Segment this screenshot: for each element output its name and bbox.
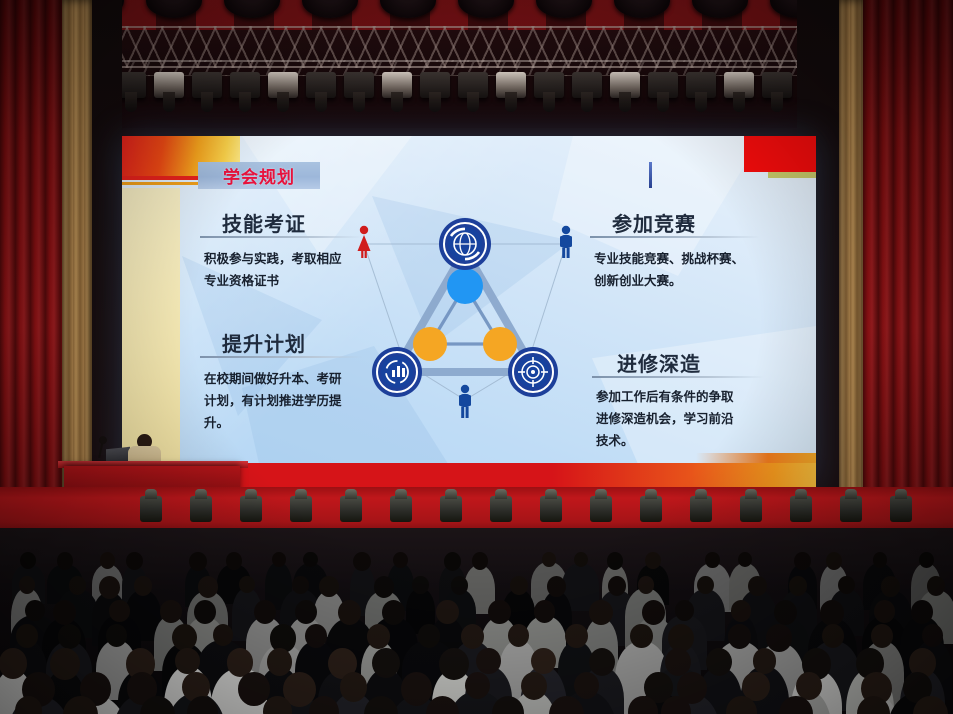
floor-light [340, 496, 362, 522]
floor-light [190, 496, 212, 522]
audience-crowd [0, 528, 953, 714]
body-further-study: 参加工作后有条件的争取 进修深造机会，学习前沿 技术。 [596, 386, 808, 452]
audience-member-head [69, 576, 86, 595]
audience-member-head [50, 648, 80, 680]
light-hanger [619, 92, 631, 112]
audience-member-head [226, 552, 243, 570]
audience-member-head [461, 624, 484, 649]
audience-member-head [794, 552, 811, 570]
audience-member-head [542, 552, 556, 567]
body-line: 专业技能竞赛、挑战杯赛、 [594, 248, 804, 270]
slide-tick-mark [649, 162, 652, 188]
audience-member-head [911, 600, 933, 624]
light-hanger [733, 92, 745, 112]
projection-screen: 学会规划 技能考证 积极参与实践，考取相应 专业资格证书 参加竞赛 专业技能竞赛… [122, 136, 816, 487]
person-male-icon-bottom [459, 385, 471, 418]
audience-member-head [476, 648, 500, 674]
audience-member-head [412, 576, 428, 594]
audience-member-head [565, 624, 588, 648]
globe-gear-icon [439, 218, 491, 270]
audience-member-head [820, 600, 844, 626]
audience-member-head [100, 552, 116, 569]
floor-light [290, 496, 312, 522]
body-line: 创新创业大赛。 [594, 270, 804, 292]
wood-column-right [839, 0, 863, 545]
audience-member-head [472, 552, 489, 570]
connector-line [364, 244, 404, 362]
light-hanger [315, 92, 327, 112]
person-female-icon [358, 226, 371, 258]
audience-member-head [705, 552, 720, 568]
audience-member-head [16, 624, 38, 648]
light-hanger [467, 92, 479, 112]
audience-member-head [881, 576, 900, 597]
slide-title-text: 学会规划 [223, 163, 295, 188]
audience-member-head [531, 648, 555, 674]
light-hanger [163, 92, 175, 112]
body-line: 进修深造机会，学习前沿 [596, 408, 808, 430]
audience-member-head [189, 552, 206, 571]
dot-orange-right [483, 327, 517, 361]
floor-light [690, 496, 712, 522]
audience-member-head [319, 576, 339, 597]
audience-member-head [272, 552, 286, 567]
audience-member-head [728, 624, 751, 649]
audience-member-head [58, 624, 81, 649]
floor-light [890, 496, 912, 522]
audience-member-head [372, 648, 400, 678]
floor-light [390, 496, 412, 522]
audience-member-head [510, 576, 528, 595]
audience-member-head [874, 600, 895, 623]
light-hanger [695, 92, 707, 112]
floor-light [140, 496, 162, 522]
audience-member-head [873, 552, 888, 568]
curtain-left [0, 0, 62, 545]
audience-member-head [642, 600, 665, 625]
audience-member-head [766, 624, 792, 652]
heading-improvement-plan: 提升计划 [222, 328, 306, 357]
heading-rule [200, 236, 362, 238]
audience-member-head [303, 552, 317, 567]
floor-light [790, 496, 812, 522]
audience-member-head [418, 624, 440, 648]
audience-member-head [439, 648, 469, 680]
audience-member-head [340, 672, 368, 702]
audience-member-head [521, 672, 547, 700]
audience-member-head [731, 600, 751, 622]
audience-member-head [607, 552, 623, 570]
audience-member-head [697, 576, 714, 594]
audience-member-head [753, 648, 777, 674]
audience-member-head [574, 672, 599, 699]
audience-member-head [748, 576, 767, 596]
audience-member-head [826, 552, 843, 570]
floor-light [740, 496, 762, 522]
light-hanger [771, 92, 783, 112]
body-line: 参加工作后有条件的争取 [596, 386, 808, 408]
light-hanger [505, 92, 517, 112]
heading-join-competition: 参加竞赛 [612, 208, 696, 237]
audience-member-head [451, 576, 468, 595]
dot-orange-left [413, 327, 447, 361]
person-male-icon-right [560, 226, 572, 258]
heading-skill-certification: 技能考证 [222, 208, 306, 237]
audience-member-head [922, 624, 943, 647]
audience-member-head [488, 600, 510, 624]
light-hanger [657, 92, 669, 112]
audience-member-head [160, 600, 182, 623]
audience-member-head [238, 672, 269, 706]
light-hanger [429, 92, 441, 112]
triangle-network-diagram [352, 214, 578, 424]
audience-member-head [436, 600, 458, 624]
floor-light [590, 496, 612, 522]
audience-member-head [126, 552, 143, 570]
audience-member-head [134, 576, 152, 596]
body-line: 技术。 [596, 430, 808, 452]
audience-member-head [109, 600, 129, 622]
body-join-competition: 专业技能竞赛、挑战杯赛、 创新创业大赛。 [594, 248, 804, 292]
dot-blue-top [447, 268, 483, 304]
light-hanger [239, 92, 251, 112]
light-hanger [391, 92, 403, 112]
audience-member-head [838, 576, 855, 594]
audience-member-head [353, 552, 371, 571]
floor-light [440, 496, 462, 522]
connector-line [528, 244, 566, 362]
floor-light [540, 496, 562, 522]
light-hanger [201, 92, 213, 112]
light-hanger [277, 92, 289, 112]
bar-chart-icon [372, 347, 422, 397]
audience-member-head [267, 648, 293, 676]
heading-rule [590, 236, 760, 238]
audience-member-head [589, 648, 615, 676]
heading-rule [592, 376, 764, 378]
audience-member-head [919, 552, 934, 568]
slide-corner-olive-strip [768, 172, 816, 178]
audience-member-head [99, 576, 120, 599]
audience-member-head [645, 552, 661, 569]
floor-light [840, 496, 862, 522]
slide-corner-red-block [744, 136, 816, 172]
audience-member-head [53, 600, 76, 625]
audience-member-head [465, 672, 490, 699]
auditorium-scene: 学会规划 技能考证 积极参与实践，考取相应 专业资格证书 参加竞赛 专业技能竞赛… [0, 0, 953, 714]
light-hanger [353, 92, 365, 112]
floor-light [640, 496, 662, 522]
audience-member-head [57, 552, 73, 570]
audience-member-head [106, 624, 127, 647]
audience-member-head [927, 576, 945, 596]
light-hanger [543, 92, 555, 112]
audience-member-head [638, 576, 654, 594]
heading-rule [200, 356, 362, 358]
audience-member-head [367, 624, 390, 649]
audience-member-head [789, 576, 807, 596]
audience-member-head [198, 576, 218, 598]
heading-further-study: 进修深造 [617, 348, 701, 377]
slide-bottom-gradient-glow [696, 453, 816, 463]
audience-member-head [292, 576, 309, 594]
curtain-right [863, 0, 953, 545]
light-hanger [581, 92, 593, 112]
slide-title-badge: 学会规划 [198, 162, 320, 189]
floor-light [490, 496, 512, 522]
audience-member-head [630, 624, 653, 648]
audience-member-head [19, 576, 36, 594]
target-icon [508, 347, 558, 397]
audience-member-head [608, 576, 626, 596]
floor-light [240, 496, 262, 522]
light-hanger [125, 92, 137, 112]
